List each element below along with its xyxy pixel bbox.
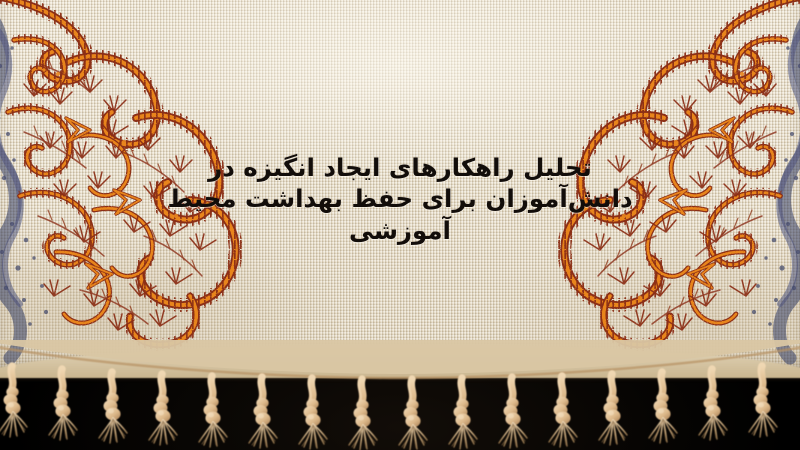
- title-line-2: دانش‌آموزان برای حفظ بهداشت محیط: [0, 183, 800, 214]
- slide-title: تحلیل راهکارهای ایجاد انگیزه در دانش‌آمو…: [0, 152, 800, 246]
- tassel-fringe: [0, 340, 800, 450]
- title-line-3: آموزشی: [0, 215, 800, 246]
- slide-canvas: تحلیل راهکارهای ایجاد انگیزه در دانش‌آمو…: [0, 0, 800, 450]
- title-line-1: تحلیل راهکارهای ایجاد انگیزه در: [0, 152, 800, 183]
